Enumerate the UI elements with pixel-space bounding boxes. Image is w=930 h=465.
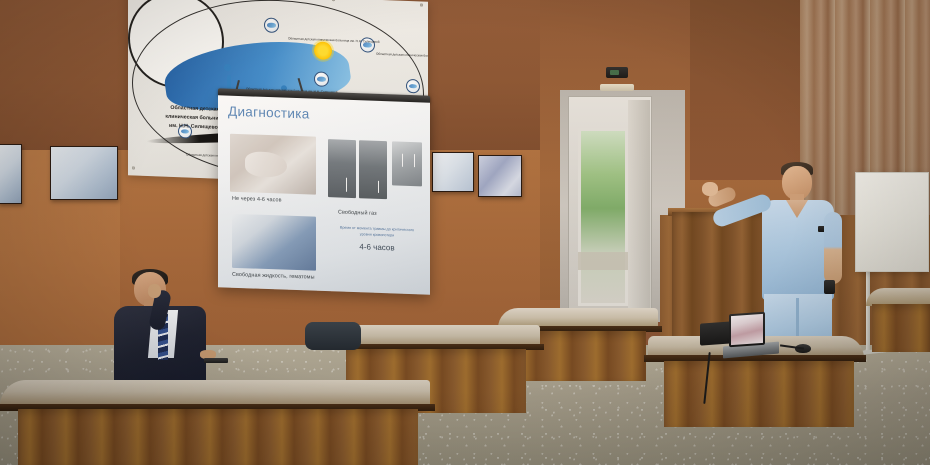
presenter-hand	[702, 182, 718, 196]
desk-phone-object	[204, 358, 228, 363]
wall-light-strip	[600, 84, 634, 91]
pull-down-projection-screen: Диагностика Не через 4-6 часов Свободный…	[218, 95, 430, 294]
attendee-hand-at-ear	[148, 284, 161, 298]
front-desk-front	[18, 409, 418, 465]
slide-xray-3	[392, 141, 422, 186]
framed-photo-3	[432, 152, 474, 192]
slide-caption-lapar: Не через 4-6 часов	[232, 196, 282, 204]
front-desk-top	[0, 380, 430, 406]
presentation-clicker	[824, 280, 835, 294]
framed-photo-2	[50, 146, 118, 200]
slide-caption-fluid: Свободная жидкость, гематомы	[232, 272, 315, 281]
slide-photo-ultrasound	[232, 214, 316, 271]
slide-arrow-3	[402, 154, 403, 167]
right-wall-column	[690, 0, 810, 180]
slide-arrow-2	[378, 181, 379, 193]
banner-logo-small-4	[406, 79, 420, 94]
door-side-panel	[628, 100, 650, 316]
seated-attendee	[112, 272, 230, 384]
presentation-slide: Диагностика Не через 4-6 часов Свободный…	[218, 95, 430, 294]
flipchart-leg	[866, 268, 870, 352]
presenter-desk-front	[664, 361, 854, 427]
slide-note-value: 4-6 часов	[336, 241, 418, 253]
slide-title: Диагностика	[228, 104, 420, 126]
slide-xray-2	[359, 140, 387, 199]
slide-xray-1	[328, 139, 356, 198]
hospital-logo	[128, 0, 224, 90]
banner-logo-small-1	[264, 17, 279, 33]
slide-arrow-1	[346, 178, 347, 192]
balcony-door-glass	[578, 128, 628, 306]
flipchart-board	[855, 172, 929, 272]
desk-far-right-front	[872, 304, 930, 352]
presenter-lower-arm	[824, 212, 842, 284]
laptop-display	[731, 314, 763, 345]
slide-photo-laparocentesis	[230, 134, 316, 195]
slide-caption-gas: Свободный газ	[338, 209, 377, 216]
banner-logo-small-3	[314, 71, 329, 87]
door-sill	[578, 252, 628, 270]
framed-photo-1	[0, 144, 22, 204]
framed-photo-4	[478, 155, 522, 197]
office-chair	[305, 322, 361, 350]
wall-sensor-icon	[606, 67, 628, 78]
conference-room-photo: Областная детская клиническая больница и…	[0, 0, 930, 465]
presenter-laptop	[729, 312, 765, 348]
slide-arrow-4	[414, 154, 415, 167]
slide-note-text: Время от момента травмы до критического …	[336, 225, 418, 239]
